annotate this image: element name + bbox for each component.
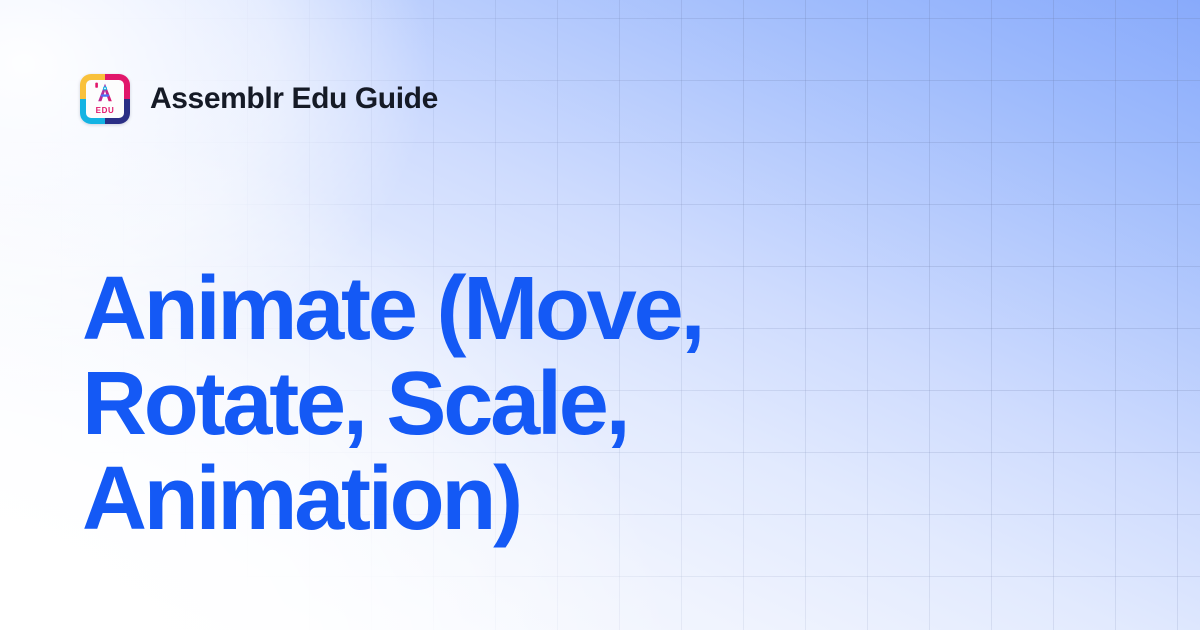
brand-header: EDU Assemblr Edu Guide — [80, 74, 438, 124]
brand-title: Assemblr Edu Guide — [150, 82, 438, 116]
og-card: EDU Assemblr Edu Guide Animate (Move, Ro… — [0, 0, 1200, 630]
logo-inner-plate: EDU — [86, 80, 124, 118]
compass-a-icon — [92, 82, 118, 106]
assemblr-edu-logo-icon: EDU — [80, 74, 130, 124]
page-title: Animate (Move, Rotate, Scale, Animation) — [82, 262, 962, 547]
logo-edu-label: EDU — [96, 107, 115, 115]
card-content: EDU Assemblr Edu Guide Animate (Move, Ro… — [0, 0, 1200, 630]
